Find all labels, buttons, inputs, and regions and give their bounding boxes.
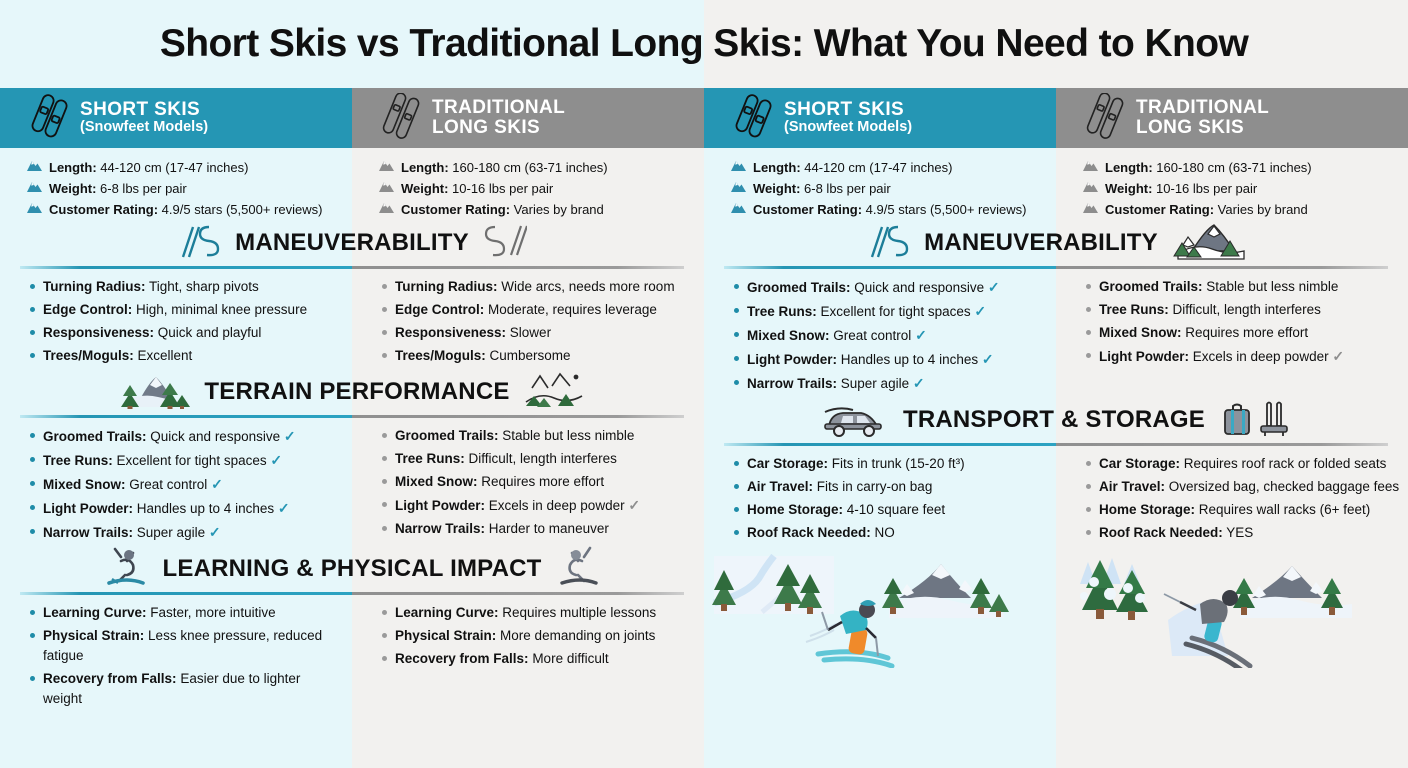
list-item: Car Storage: Fits in trunk (15-20 ft³)	[734, 454, 1044, 474]
mountain-outline-icon	[524, 370, 584, 415]
list-item: Responsiveness: Quick and playful	[30, 323, 340, 343]
column-header-long-skis-2: TRADITIONAL LONG SKIS	[1056, 88, 1408, 148]
bullet-dot	[382, 330, 387, 335]
bullet-dot	[30, 433, 35, 438]
column-header-long-text-2: TRADITIONAL LONG SKIS	[1136, 98, 1269, 138]
bullet-dot	[734, 530, 739, 535]
bullet-dot	[382, 353, 387, 358]
spec-col-long-2: Length: 160-180 cm (63-71 inches)Weight:…	[1056, 157, 1408, 220]
list-item-text: Roof Rack Needed: YES	[1099, 523, 1253, 543]
spec-text: Weight: 10-16 lbs per pair	[401, 178, 553, 199]
spec-row: Weight: 6-8 lbs per pair	[730, 178, 1056, 199]
list-item: Tree Runs: Excellent for tight spaces ✓	[734, 301, 1044, 322]
list-item-text: Car Storage: Requires roof rack or folde…	[1099, 454, 1386, 474]
list-item-text: Narrow Trails: Super agile ✓	[43, 522, 221, 543]
skier-downhill-teal-illustration	[704, 548, 1056, 668]
list-item-text: Air Travel: Oversized bag, checked bagga…	[1099, 477, 1399, 497]
section-divider-right	[352, 415, 684, 418]
list-item-text: Light Powder: Excels in deep powder ✓	[395, 495, 640, 516]
list-item: Groomed Trails: Quick and responsive ✓	[30, 426, 340, 447]
left-column-headers: SHORT SKIS (Snowfeet Models)	[0, 88, 704, 148]
list-item-text: Responsiveness: Quick and playful	[43, 323, 261, 343]
list-item: Mixed Snow: Great control ✓	[30, 474, 340, 495]
list-item: Edge Control: High, minimal knee pressur…	[30, 300, 340, 320]
bullet-dot	[382, 433, 387, 438]
list-item: Mixed Snow: Great control ✓	[734, 325, 1044, 346]
list-item-text: Car Storage: Fits in trunk (15-20 ft³)	[747, 454, 965, 474]
skier-fall-icon	[103, 545, 149, 594]
list-item: Turning Radius: Tight, sharp pivots	[30, 277, 340, 297]
check-icon: ✓	[211, 476, 223, 492]
column-title-long: TRADITIONAL	[432, 98, 565, 118]
section-lists: Groomed Trails: Quick and responsive ✓Tr…	[704, 269, 1408, 397]
section-title: TRANSPORT & STORAGE	[903, 406, 1205, 434]
left-specs: Length: 44-120 cm (17-47 inches)Weight: …	[0, 148, 704, 220]
list-item-text: Physical Strain: Less knee pressure, red…	[43, 626, 340, 666]
spec-text: Customer Rating: 4.9/5 stars (5,500+ rev…	[49, 199, 322, 220]
spec-row: Length: 44-120 cm (17-47 inches)	[26, 157, 352, 178]
mountain-bullet-teal	[730, 157, 747, 178]
mountain-bullet-gray	[1082, 199, 1099, 220]
mountain-bullet-gray	[1082, 178, 1099, 199]
mountain-bullet-gray	[378, 178, 395, 199]
list-item: Mixed Snow: Requires more effort	[1086, 323, 1400, 343]
mountain-bullet-gray	[378, 199, 395, 220]
section-divider-right	[1056, 266, 1388, 269]
list-item-text: Turning Radius: Wide arcs, needs more ro…	[395, 277, 675, 297]
long-skis-list: Groomed Trails: Stable but less nimbleTr…	[352, 426, 704, 546]
mountain-bullet-teal	[26, 199, 43, 220]
list-item: Turning Radius: Wide arcs, needs more ro…	[382, 277, 696, 297]
check-icon: ✓	[974, 303, 986, 319]
section-header: LEARNING & PHYSICAL IMPACT	[0, 546, 704, 592]
column-title-short-2: SHORT SKIS	[784, 100, 912, 120]
list-item-text: Light Powder: Handles up to 4 inches ✓	[747, 349, 994, 370]
column-subtitle-long-2: LONG SKIS	[1136, 118, 1269, 138]
column-title-long-2: TRADITIONAL	[1136, 98, 1269, 118]
column-header-short-skis-2: SHORT SKIS (Snowfeet Models)	[704, 88, 1056, 148]
list-item-text: Learning Curve: Requires multiple lesson…	[395, 603, 656, 623]
spec-col-short: Length: 44-120 cm (17-47 inches)Weight: …	[0, 157, 352, 220]
short-skis-list: Learning Curve: Faster, more intuitivePh…	[0, 603, 352, 712]
check-icon: ✓	[284, 428, 296, 444]
list-item: Light Powder: Excels in deep powder ✓	[382, 495, 696, 516]
list-item-text: Physical Strain: More demanding on joint…	[395, 626, 655, 646]
list-item: Physical Strain: Less knee pressure, red…	[30, 626, 340, 666]
list-item: Recovery from Falls: More difficult	[382, 649, 696, 669]
section-title: LEARNING & PHYSICAL IMPACT	[163, 555, 542, 583]
bullet-dot	[382, 656, 387, 661]
bullet-dot	[30, 330, 35, 335]
spec-text: Length: 160-180 cm (63-71 inches)	[401, 157, 608, 178]
illustration-strip	[704, 548, 1408, 668]
bullet-dot	[382, 307, 387, 312]
column-title-short: SHORT SKIS	[80, 100, 208, 120]
check-icon: ✓	[278, 500, 290, 516]
column-subtitle-long: LONG SKIS	[432, 118, 565, 138]
list-item-text: Turning Radius: Tight, sharp pivots	[43, 277, 259, 297]
short-skis-list: Car Storage: Fits in trunk (15-20 ft³)Ai…	[704, 454, 1056, 546]
section-title: MANEUVERABILITY	[924, 229, 1158, 257]
check-icon: ✓	[209, 524, 221, 540]
title-band: Short Skis vs Traditional Long Skis: Wha…	[0, 0, 1408, 88]
bullet-dot	[382, 633, 387, 638]
list-item-text: Trees/Moguls: Excellent	[43, 346, 192, 366]
spec-row: Customer Rating: 4.9/5 stars (5,500+ rev…	[26, 199, 352, 220]
list-item: Physical Strain: More demanding on joint…	[382, 626, 696, 646]
section-divider-right	[352, 266, 684, 269]
bullet-dot	[30, 353, 35, 358]
spec-text: Customer Rating: Varies by brand	[1105, 199, 1308, 220]
long-skis-list: Learning Curve: Requires multiple lesson…	[352, 603, 704, 712]
short-skis-list: Groomed Trails: Quick and responsive ✓Tr…	[704, 277, 1056, 397]
list-item-text: Responsiveness: Slower	[395, 323, 551, 343]
spec-col-short-2: Length: 44-120 cm (17-47 inches)Weight: …	[704, 157, 1056, 220]
column-header-long-text: TRADITIONAL LONG SKIS	[432, 98, 565, 138]
bullet-dot	[1086, 530, 1091, 535]
mountain-bullet-gray	[1082, 157, 1099, 178]
skier-downhill-gray-illustration	[1056, 548, 1408, 668]
car-ski-rack-icon	[819, 398, 889, 443]
list-item-text: Narrow Trails: Harder to maneuver	[395, 519, 609, 539]
bullet-dot	[30, 610, 35, 615]
check-icon: ✓	[915, 327, 927, 343]
skier-fall-icon	[556, 545, 602, 594]
list-item: Car Storage: Requires roof rack or folde…	[1086, 454, 1400, 474]
bullet-dot	[30, 457, 35, 462]
list-item-text: Learning Curve: Faster, more intuitive	[43, 603, 276, 623]
list-item-text: Home Storage: 4-10 square feet	[747, 500, 945, 520]
bullet-dot	[30, 633, 35, 638]
bullet-dot	[734, 507, 739, 512]
list-item: Recovery from Falls: Easier due to light…	[30, 669, 340, 709]
bullet-dot	[30, 481, 35, 486]
list-item: Tree Runs: Difficult, length interferes	[1086, 300, 1400, 320]
long-skis-list: Groomed Trails: Stable but less nimbleTr…	[1056, 277, 1408, 397]
spec-text: Customer Rating: Varies by brand	[401, 199, 604, 220]
mountain-bullet-teal	[730, 199, 747, 220]
list-item: Roof Rack Needed: YES	[1086, 523, 1400, 543]
list-item: Narrow Trails: Super agile ✓	[30, 522, 340, 543]
comparison-section: MANEUVERABILITYGroomed Trails: Quick and…	[704, 220, 1408, 397]
spec-row: Weight: 6-8 lbs per pair	[26, 178, 352, 199]
comparison-section: LEARNING & PHYSICAL IMPACTLearning Curve…	[0, 546, 704, 712]
spec-text: Weight: 6-8 lbs per pair	[753, 178, 891, 199]
section-title: TERRAIN PERFORMANCE	[204, 378, 509, 406]
list-item-text: Trees/Moguls: Cumbersome	[395, 346, 571, 366]
skis-turn-icon	[866, 221, 910, 266]
list-item-text: Roof Rack Needed: NO	[747, 523, 895, 543]
mountain-trees-icon	[120, 371, 190, 414]
bullet-dot	[382, 456, 387, 461]
section-lists: Groomed Trails: Quick and responsive ✓Tr…	[0, 418, 704, 546]
mountain-bullet-teal	[26, 157, 43, 178]
section-header: MANEUVERABILITY	[0, 220, 704, 266]
mountain-bullet-teal	[730, 178, 747, 199]
section-divider	[724, 266, 1388, 269]
comparison-section: MANEUVERABILITYTurning Radius: Tight, sh…	[0, 220, 704, 369]
spec-text: Length: 160-180 cm (63-71 inches)	[1105, 157, 1312, 178]
list-item-text: Air Travel: Fits in carry-on bag	[747, 477, 932, 497]
list-item-text: Groomed Trails: Quick and responsive ✓	[747, 277, 1000, 298]
list-item-text: Groomed Trails: Stable but less nimble	[1099, 277, 1338, 297]
bullet-dot	[734, 332, 739, 337]
column-header-long-skis: TRADITIONAL LONG SKIS	[352, 88, 704, 148]
long-skis-list: Turning Radius: Wide arcs, needs more ro…	[352, 277, 704, 369]
spec-row: Customer Rating: 4.9/5 stars (5,500+ rev…	[730, 199, 1056, 220]
list-item-text: Narrow Trails: Super agile ✓	[747, 373, 925, 394]
list-item-text: Light Powder: Handles up to 4 inches ✓	[43, 498, 290, 519]
check-icon: ✓	[270, 452, 282, 468]
left-sections: MANEUVERABILITYTurning Radius: Tight, sh…	[0, 220, 704, 712]
mountain-scene-icon	[1172, 221, 1246, 266]
list-item: Light Powder: Excels in deep powder ✓	[1086, 346, 1400, 367]
list-item-text: Light Powder: Excels in deep powder ✓	[1099, 346, 1344, 367]
section-divider-left	[724, 266, 1056, 269]
section-lists: Turning Radius: Tight, sharp pivotsEdge …	[0, 269, 704, 369]
spec-row: Length: 44-120 cm (17-47 inches)	[730, 157, 1056, 178]
bullet-dot	[1086, 284, 1091, 289]
right-specs: Length: 44-120 cm (17-47 inches)Weight: …	[704, 148, 1408, 220]
bullet-dot	[1086, 307, 1091, 312]
list-item: Roof Rack Needed: NO	[734, 523, 1044, 543]
check-icon: ✓	[982, 351, 994, 367]
comparison-section: TRANSPORT & STORAGECar Storage: Fits in …	[704, 397, 1408, 546]
right-half: SHORT SKIS (Snowfeet Models)	[704, 88, 1408, 768]
bullet-dot	[382, 502, 387, 507]
bullet-dot	[382, 284, 387, 289]
list-item: Mixed Snow: Requires more effort	[382, 472, 696, 492]
list-item-text: Groomed Trails: Quick and responsive ✓	[43, 426, 296, 447]
bullet-dot	[1086, 507, 1091, 512]
short-skis-icon	[734, 93, 774, 144]
short-skis-list: Turning Radius: Tight, sharp pivotsEdge …	[0, 277, 352, 369]
list-item: Light Powder: Handles up to 4 inches ✓	[30, 498, 340, 519]
list-item: Narrow Trails: Super agile ✓	[734, 373, 1044, 394]
list-item-text: Edge Control: High, minimal knee pressur…	[43, 300, 307, 320]
list-item-text: Home Storage: Requires wall racks (6+ fe…	[1099, 500, 1370, 520]
spec-text: Weight: 6-8 lbs per pair	[49, 178, 187, 199]
bullet-dot	[1086, 484, 1091, 489]
list-item-text: Tree Runs: Difficult, length interferes	[395, 449, 617, 469]
list-item: Groomed Trails: Quick and responsive ✓	[734, 277, 1044, 298]
spec-row: Length: 160-180 cm (63-71 inches)	[1082, 157, 1408, 178]
page-title: Short Skis vs Traditional Long Skis: Wha…	[160, 22, 1248, 66]
long-skis-icon	[382, 93, 422, 144]
list-item-text: Recovery from Falls: More difficult	[395, 649, 609, 669]
list-item: Learning Curve: Requires multiple lesson…	[382, 603, 696, 623]
section-divider	[20, 266, 684, 269]
spec-text: Customer Rating: 4.9/5 stars (5,500+ rev…	[753, 199, 1026, 220]
list-item: Groomed Trails: Stable but less nimble	[382, 426, 696, 446]
spec-text: Weight: 10-16 lbs per pair	[1105, 178, 1257, 199]
bullet-dot	[734, 284, 739, 289]
bullet-dot	[1086, 461, 1091, 466]
section-lists: Learning Curve: Faster, more intuitivePh…	[0, 595, 704, 712]
list-item-text: Mixed Snow: Requires more effort	[395, 472, 604, 492]
bullet-dot	[734, 461, 739, 466]
section-title: MANEUVERABILITY	[235, 229, 469, 257]
skis-turn-icon	[177, 221, 221, 266]
list-item: Air Travel: Oversized bag, checked bagga…	[1086, 477, 1400, 497]
right-sections: MANEUVERABILITYGroomed Trails: Quick and…	[704, 220, 1408, 546]
skis-turn-icon	[483, 221, 527, 266]
section-header: MANEUVERABILITY	[704, 220, 1408, 266]
column-header-short-text-2: SHORT SKIS (Snowfeet Models)	[784, 100, 912, 135]
body-area: SHORT SKIS (Snowfeet Models)	[0, 88, 1408, 768]
check-icon: ✓	[913, 375, 925, 391]
list-item: Light Powder: Handles up to 4 inches ✓	[734, 349, 1044, 370]
column-subtitle-short: (Snowfeet Models)	[80, 120, 208, 135]
right-column-headers: SHORT SKIS (Snowfeet Models)	[704, 88, 1408, 148]
list-item: Tree Runs: Difficult, length interferes	[382, 449, 696, 469]
list-item: Trees/Moguls: Cumbersome	[382, 346, 696, 366]
list-item: Learning Curve: Faster, more intuitive	[30, 603, 340, 623]
list-item: Groomed Trails: Stable but less nimble	[1086, 277, 1400, 297]
list-item-text: Tree Runs: Difficult, length interferes	[1099, 300, 1321, 320]
comparison-section: TERRAIN PERFORMANCEGroomed Trails: Quick…	[0, 369, 704, 546]
spec-text: Length: 44-120 cm (17-47 inches)	[49, 157, 248, 178]
list-item-text: Mixed Snow: Great control ✓	[43, 474, 223, 495]
mountain-bullet-teal	[26, 178, 43, 199]
bullet-dot	[30, 505, 35, 510]
section-divider-left	[20, 266, 352, 269]
long-skis-icon	[1086, 93, 1126, 144]
column-header-short-text: SHORT SKIS (Snowfeet Models)	[80, 100, 208, 135]
bullet-dot	[30, 529, 35, 534]
section-divider-right	[352, 592, 684, 595]
spec-row: Customer Rating: Varies by brand	[1082, 199, 1408, 220]
list-item: Home Storage: Requires wall racks (6+ fe…	[1086, 500, 1400, 520]
list-item-text: Edge Control: Moderate, requires leverag…	[395, 300, 657, 320]
bullet-dot	[382, 610, 387, 615]
section-divider	[20, 415, 684, 418]
bullet-dot	[734, 484, 739, 489]
bullet-dot	[734, 380, 739, 385]
bullet-dot	[30, 676, 35, 681]
list-item: Edge Control: Moderate, requires leverag…	[382, 300, 696, 320]
list-item-text: Groomed Trails: Stable but less nimble	[395, 426, 634, 446]
section-divider-right	[1056, 443, 1388, 446]
section-divider-left	[20, 592, 352, 595]
section-header: TERRAIN PERFORMANCE	[0, 369, 704, 415]
list-item: Home Storage: 4-10 square feet	[734, 500, 1044, 520]
spec-row: Weight: 10-16 lbs per pair	[378, 178, 704, 199]
bullet-dot	[30, 284, 35, 289]
list-item-text: Mixed Snow: Requires more effort	[1099, 323, 1308, 343]
check-icon: ✓	[1332, 348, 1344, 364]
bullet-dot	[1086, 353, 1091, 358]
list-item-text: Recovery from Falls: Easier due to light…	[43, 669, 340, 709]
list-item: Tree Runs: Excellent for tight spaces ✓	[30, 450, 340, 471]
spec-row: Customer Rating: Varies by brand	[378, 199, 704, 220]
suitcase-and-skis-icon	[1219, 398, 1293, 443]
left-half: SHORT SKIS (Snowfeet Models)	[0, 88, 704, 768]
bullet-dot	[1086, 330, 1091, 335]
list-item: Air Travel: Fits in carry-on bag	[734, 477, 1044, 497]
spec-row: Weight: 10-16 lbs per pair	[1082, 178, 1408, 199]
bullet-dot	[30, 307, 35, 312]
spec-row: Length: 160-180 cm (63-71 inches)	[378, 157, 704, 178]
list-item-text: Tree Runs: Excellent for tight spaces ✓	[747, 301, 986, 322]
infographic-page: Short Skis vs Traditional Long Skis: Wha…	[0, 0, 1408, 768]
section-divider	[724, 443, 1388, 446]
short-skis-icon	[30, 93, 70, 144]
column-subtitle-short-2: (Snowfeet Models)	[784, 120, 912, 135]
section-divider-left	[724, 443, 1056, 446]
section-lists: Car Storage: Fits in trunk (15-20 ft³)Ai…	[704, 446, 1408, 546]
long-skis-list: Car Storage: Requires roof rack or folde…	[1056, 454, 1408, 546]
short-skis-list: Groomed Trails: Quick and responsive ✓Tr…	[0, 426, 352, 546]
mountain-bullet-gray	[378, 157, 395, 178]
check-icon: ✓	[628, 497, 640, 513]
list-item-text: Mixed Snow: Great control ✓	[747, 325, 927, 346]
bullet-dot	[734, 356, 739, 361]
bullet-dot	[382, 526, 387, 531]
check-icon: ✓	[988, 279, 1000, 295]
list-item: Trees/Moguls: Excellent	[30, 346, 340, 366]
list-item-text: Tree Runs: Excellent for tight spaces ✓	[43, 450, 282, 471]
spec-text: Length: 44-120 cm (17-47 inches)	[753, 157, 952, 178]
section-divider-left	[20, 415, 352, 418]
section-header: TRANSPORT & STORAGE	[704, 397, 1408, 443]
bullet-dot	[382, 479, 387, 484]
bullet-dot	[734, 308, 739, 313]
column-header-short-skis: SHORT SKIS (Snowfeet Models)	[0, 88, 352, 148]
spec-col-long: Length: 160-180 cm (63-71 inches)Weight:…	[352, 157, 704, 220]
list-item: Responsiveness: Slower	[382, 323, 696, 343]
list-item: Narrow Trails: Harder to maneuver	[382, 519, 696, 539]
